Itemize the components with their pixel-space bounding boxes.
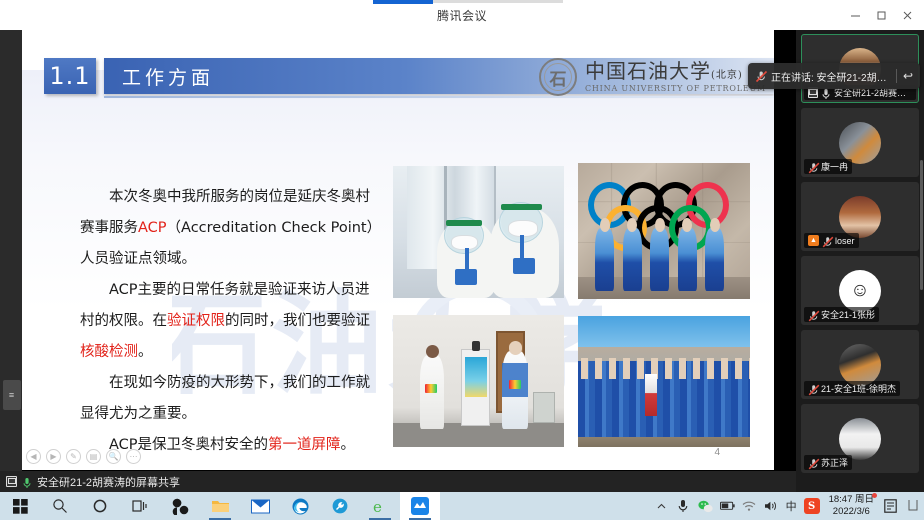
avatar: ☺	[839, 270, 881, 312]
photo1-headband-right	[501, 204, 542, 210]
slide-title-underline	[104, 96, 774, 98]
photo3-emblem-right	[509, 380, 521, 389]
highlighted-text: ACP	[138, 220, 167, 236]
app-ie-button[interactable]: e	[360, 492, 400, 520]
screen-share-icon	[6, 476, 17, 487]
task-view-button[interactable]	[120, 492, 160, 520]
maximize-icon[interactable]	[870, 4, 892, 26]
university-name-cn-suffix: (北京)	[711, 70, 743, 81]
app-tool-button[interactable]	[320, 492, 360, 520]
avatar	[839, 418, 881, 460]
taskbar-buttons: e	[0, 492, 440, 520]
clock-date: 2022/3/6	[829, 506, 874, 518]
sketch-face-icon: ☺	[839, 270, 881, 312]
search-button[interactable]	[40, 492, 80, 520]
window-tab-strip	[373, 0, 563, 4]
participant-rail[interactable]: 安全研21-2胡赛涛的耳...康一冉▲loser☺安全21-1张彤21-安全1班…	[796, 30, 924, 492]
photo3-chairs	[533, 392, 555, 424]
participant-rail-scrollbar[interactable]	[920, 160, 923, 290]
action-center-icon[interactable]	[883, 499, 898, 514]
body-run: 。	[341, 437, 356, 453]
photo1-headband-left	[446, 220, 482, 226]
share-status-label: 安全研21-2胡赛涛的屏幕共享	[37, 474, 180, 490]
slide-title: 工作方面	[122, 63, 214, 90]
highlighted-text: 第一道屏障	[268, 437, 341, 453]
participant-name-chip: 安全21-1张彤	[804, 307, 879, 322]
muted-microphone-icon[interactable]	[808, 457, 818, 469]
svg-text:e: e	[373, 498, 382, 515]
app-mail-button[interactable]	[240, 492, 280, 520]
photo1-credential-right	[513, 258, 535, 274]
photo-olympic-rings	[578, 163, 750, 299]
participant-name-chip: 21-安全1班-徐明杰	[804, 381, 900, 396]
active-speaker-toast[interactable]: 正在讲话: 安全研21-2胡赛... ↩	[748, 63, 920, 89]
participant-tile[interactable]: 21-安全1班-徐明杰	[801, 330, 919, 399]
photo2-volunteer-1	[595, 228, 614, 291]
participant-name: 苏正泽	[821, 456, 848, 469]
muted-microphone-icon[interactable]	[808, 161, 818, 173]
presenter-controls: ◀▶✎▤🔍⋯	[26, 449, 141, 464]
photo2-volunteer-3	[650, 228, 669, 291]
windows-taskbar: e	[0, 492, 924, 520]
photo1-credential-left	[455, 269, 477, 285]
sogou-pinyin-icon[interactable]: S	[804, 498, 820, 514]
pen-tool-button[interactable]: ✎	[66, 449, 81, 464]
host-badge-icon: ▲	[808, 235, 819, 246]
avatar	[839, 196, 881, 238]
close-icon[interactable]	[896, 4, 918, 26]
participant-tile[interactable]: 苏正泽	[801, 404, 919, 473]
slide-number: 4	[714, 447, 720, 458]
app-edge-button[interactable]	[280, 492, 320, 520]
photo4-person-in-red	[645, 374, 657, 416]
ime-indicator[interactable]: 中	[786, 498, 797, 514]
microphone-icon	[22, 476, 32, 488]
avatar	[839, 122, 881, 164]
slide-paragraph: 本次冬奥中我所服务的岗位是延庆冬奥村赛事服务ACP（Accreditation …	[80, 182, 380, 275]
minimize-icon[interactable]	[844, 4, 866, 26]
slide-paragraph: 在现如今防疫的大形势下，我们的工作就显得尤为之重要。	[80, 368, 380, 430]
window-title: 腾讯会议	[437, 7, 487, 24]
university-name-en: CHINA UNIVERSITY OF PETROLEUM	[585, 84, 766, 93]
shared-screen-canvas: ≡ 石油大学 1.1 工作方面 石 中国石油大学(北京) CHINA UNIVE…	[0, 30, 796, 476]
participant-tile[interactable]: ▲loser	[801, 182, 919, 251]
presentation-slide: 石油大学 1.1 工作方面 石 中国石油大学(北京) CHINA UNIVERS…	[22, 30, 774, 470]
muted-microphone-icon[interactable]	[822, 235, 832, 247]
photo3-kiosk-screen	[465, 357, 487, 397]
university-name-cn-main: 中国石油大学	[585, 59, 711, 83]
cortana-button[interactable]	[80, 492, 120, 520]
body-run: 的同时，我们也要验证	[225, 313, 370, 329]
photo4-crowd-heads	[578, 358, 750, 379]
highlighted-text: 验证权限	[167, 313, 225, 329]
slide-paragraph: ACP主要的日常任务就是验证来访人员进村的权限。在验证权限的同时，我们也要验证核…	[80, 275, 380, 368]
body-run: 。	[138, 344, 153, 360]
slide-menu-button[interactable]: ▤	[86, 449, 101, 464]
participant-name-chip: 康一冉	[804, 159, 852, 174]
highlighted-text: 核酸检测	[80, 344, 138, 360]
participant-tile[interactable]: 康一冉	[801, 108, 919, 177]
meeting-window: 腾讯会议 ≡ 石油大学 1.1 工作方面	[0, 0, 924, 520]
photo3-floor	[393, 423, 564, 447]
return-to-meeting-icon[interactable]: ↩	[903, 69, 913, 83]
active-tab-indicator[interactable]	[373, 0, 433, 4]
inactive-tab-indicator[interactable]	[433, 0, 563, 3]
photo-volunteers-ppe	[393, 166, 564, 298]
body-run: 在现如今防疫的大形势下，我们的工作就显得尤为之重要。	[80, 375, 370, 422]
presenter-side-tab[interactable]: ≡	[3, 380, 21, 410]
toast-divider	[896, 69, 897, 83]
photo2-volunteer-2	[623, 228, 642, 291]
battery-tray-icon[interactable]	[720, 499, 735, 514]
volume-tray-icon[interactable]	[764, 499, 779, 514]
participant-name-chip: 苏正泽	[804, 455, 852, 470]
more-options-button[interactable]: ⋯	[126, 449, 141, 464]
wifi-tray-icon[interactable]	[742, 499, 757, 514]
section-number-badge: 1.1	[44, 58, 96, 94]
participant-name-chip: ▲loser	[804, 233, 859, 248]
photo3-emblem-left	[425, 384, 437, 393]
next-slide-button[interactable]: ▶	[46, 449, 61, 464]
photo2-volunteer-5	[705, 228, 724, 291]
participant-name: 康一冉	[821, 160, 848, 173]
wechat-tray-icon[interactable]	[698, 499, 713, 514]
muted-microphone-icon	[755, 70, 765, 82]
shared-screen-right-gutter	[774, 30, 796, 476]
photo-verification-kiosk	[393, 315, 564, 447]
active-speaker-text: 正在讲话: 安全研21-2胡赛...	[771, 69, 890, 84]
photo3-kiosk-camera	[472, 341, 481, 350]
prev-slide-button[interactable]: ◀	[26, 449, 41, 464]
microphone-tray-icon[interactable]	[676, 499, 691, 514]
app-sogou-button[interactable]	[160, 492, 200, 520]
participant-tile[interactable]: ☺安全21-1张彤	[801, 256, 919, 325]
system-tray: 中 S 18:47 周日 2022/3/6	[654, 492, 924, 520]
zoom-button[interactable]: 🔍	[106, 449, 121, 464]
participant-name: loser	[835, 236, 855, 246]
share-status-bar: 安全研21-2胡赛涛的屏幕共享	[0, 471, 796, 492]
muted-microphone-icon[interactable]	[808, 383, 818, 395]
window-controls	[844, 0, 918, 30]
university-name-cn: 中国石油大学(北京)	[585, 61, 766, 82]
notification-dot	[872, 493, 877, 498]
app-tencent-meeting-button[interactable]	[400, 492, 440, 520]
university-logo: 石 中国石油大学(北京) CHINA UNIVERSITY OF PETROLE…	[539, 58, 766, 96]
show-hidden-icons-chevron-icon[interactable]	[654, 499, 669, 514]
photo2-volunteer-4	[678, 228, 697, 291]
window-title-bar: 腾讯会议	[0, 0, 924, 30]
avatar	[839, 344, 881, 386]
participant-name: 安全21-1张彤	[821, 308, 875, 321]
university-seal-icon: 石	[539, 58, 577, 96]
start-button[interactable]	[0, 492, 40, 520]
muted-microphone-icon[interactable]	[808, 309, 818, 321]
taskbar-clock[interactable]: 18:47 周日 2022/3/6	[827, 494, 876, 518]
slide-body-text: 本次冬奥中我所服务的岗位是延庆冬奥村赛事服务ACP（Accreditation …	[80, 182, 380, 461]
photo-group-photo	[578, 316, 750, 447]
participant-name: 21-安全1班-徐明杰	[821, 382, 896, 395]
clock-time: 18:47 周日	[829, 494, 874, 506]
show-desktop-button[interactable]	[905, 499, 920, 514]
photo1-lanyard-right	[520, 235, 524, 261]
app-file-explorer-button[interactable]	[200, 492, 240, 520]
